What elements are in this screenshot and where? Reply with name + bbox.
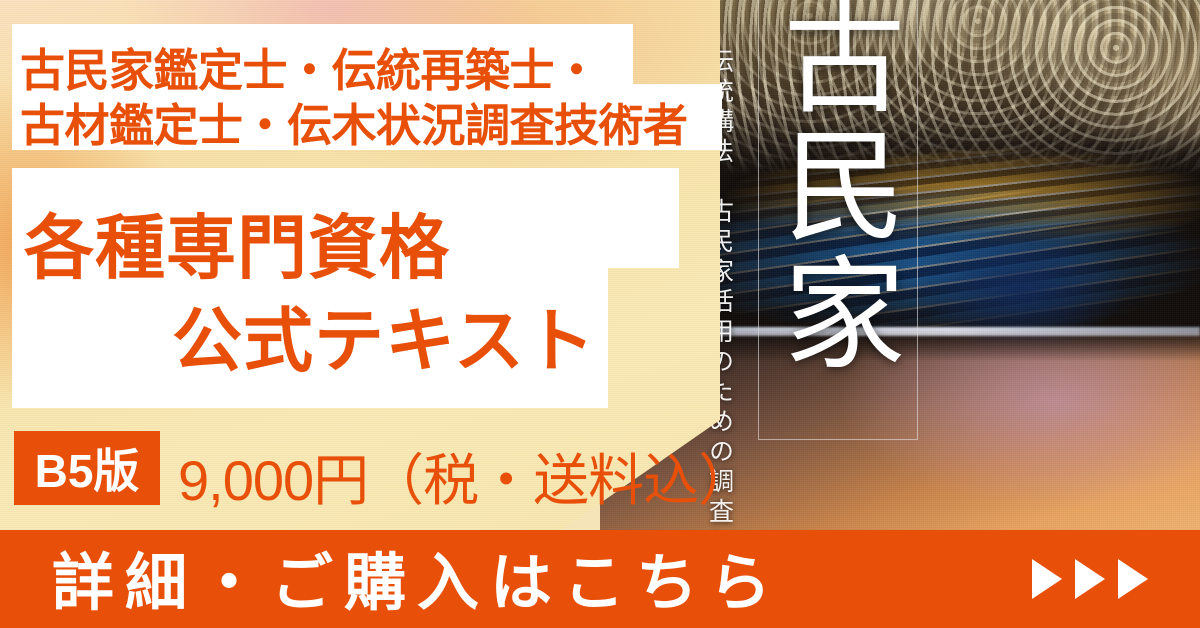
triangle-right-icon — [1118, 559, 1148, 599]
cta-arrow-group — [1032, 559, 1148, 599]
cta-label: 詳細・ご購入はこちら — [52, 532, 782, 622]
triangle-right-icon — [1032, 559, 1062, 599]
cta-bar[interactable]: 詳細・ご購入はこちら — [0, 530, 1200, 628]
cover-title: 古民家 — [775, 0, 903, 378]
headline-line-2: 公式テキスト — [172, 285, 596, 386]
certification-line-2: 古材鑑定士・伝木状況調査技術者 — [20, 89, 688, 154]
format-badge: B5版 — [14, 431, 160, 505]
price-text: 9,000円（税・送料込） — [178, 436, 753, 517]
triangle-right-icon — [1075, 559, 1105, 599]
promo-banner: 古民家 伝統構法 古民家活用のための調査と再生の 古民家鑑定士・伝統再築士・ 古… — [0, 0, 1200, 628]
headline-line-1: 各種専門資格 — [24, 192, 450, 293]
